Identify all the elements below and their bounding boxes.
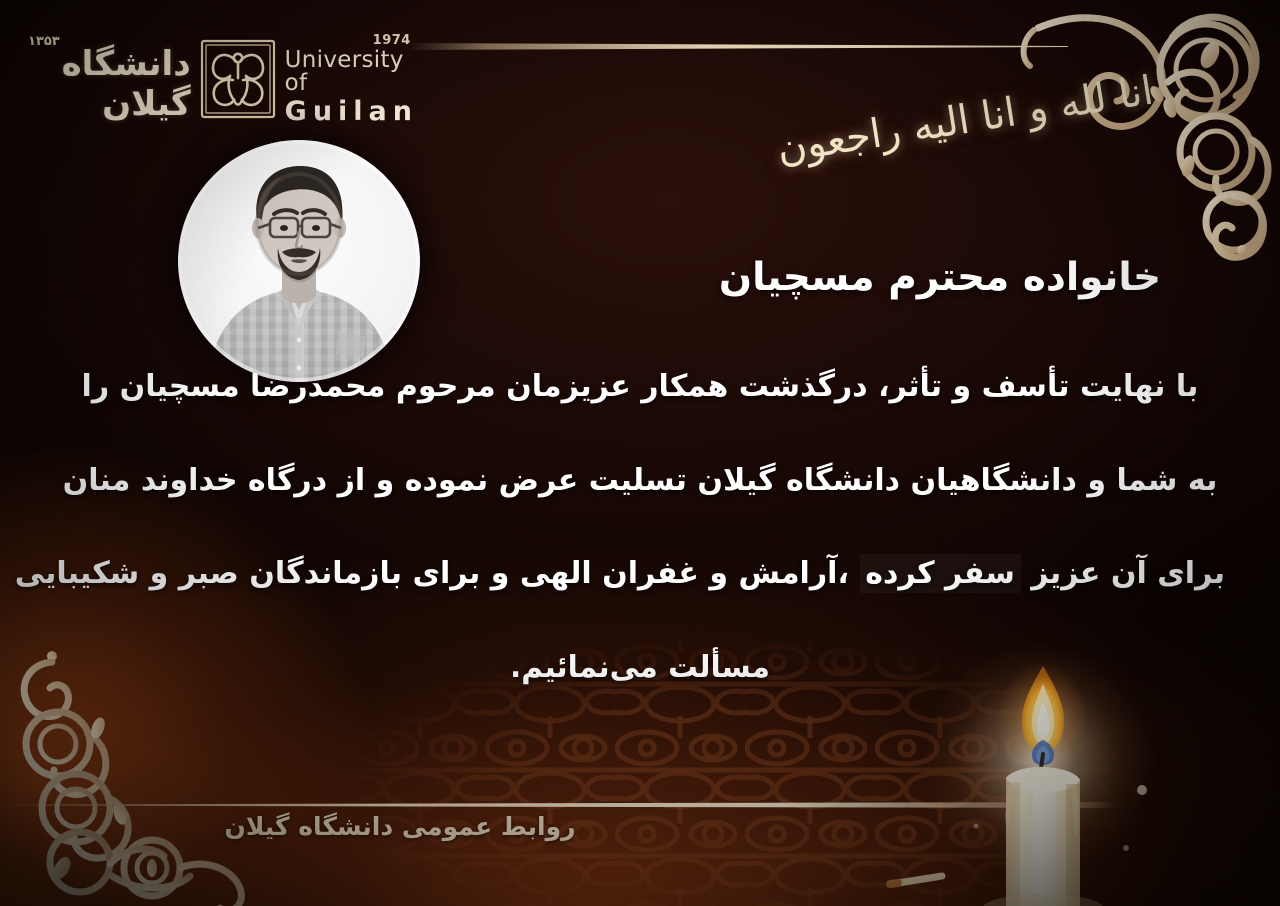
inna-lillahi-calligraphy: انا لله و انا اليه راجعون: [820, 52, 1110, 187]
logo-persian-block: ۱۳۵۳ دانشگاه گیلان: [28, 34, 191, 123]
message-line-3-highlight: سفر کرده: [859, 554, 1020, 593]
message-line-2: به شما و دانشگاهیان دانشگاه گیلان تسلیت …: [55, 466, 1225, 497]
message-line-1: با نهایت تأسف و تأثر، درگذشت همکار عزیزم…: [55, 372, 1225, 403]
logo-year-gregorian: 1974: [373, 34, 411, 47]
page-title: خانواده محترم مسچیان: [660, 255, 1220, 300]
candle-body: [1006, 767, 1080, 906]
message-line-3: برای آن عزیز سفر کرده ،آرامش و غفران اله…: [55, 559, 1225, 590]
logo-persian-name: دانشگاه گیلان: [28, 45, 191, 123]
logo-english-block: 1974 University of Guilan: [285, 34, 418, 125]
logo-guilan-word: Guilan: [285, 98, 418, 125]
candle-light-rays: [896, 612, 1180, 906]
candle-flame: [1022, 666, 1064, 753]
university-logo: 1974 University of Guilan: [28, 34, 418, 124]
calligraphy-text: انا لله و انا اليه راجعون: [811, 30, 1119, 209]
deceased-portrait: [178, 140, 420, 382]
butterfly-emblem-icon: [199, 38, 277, 120]
message-line-3-after: ،آرامش و غفران الهی و برای بازماندگان صب…: [15, 556, 860, 591]
logo-university-word: University of: [285, 49, 418, 95]
message-line-3-before: برای آن عزیز: [1021, 556, 1225, 591]
public-relations-signature: روابط عمومی دانشگاه گیلان: [200, 812, 600, 841]
memorial-candle: [880, 612, 1180, 906]
condolence-poster: 1974 University of Guilan: [0, 0, 1280, 906]
